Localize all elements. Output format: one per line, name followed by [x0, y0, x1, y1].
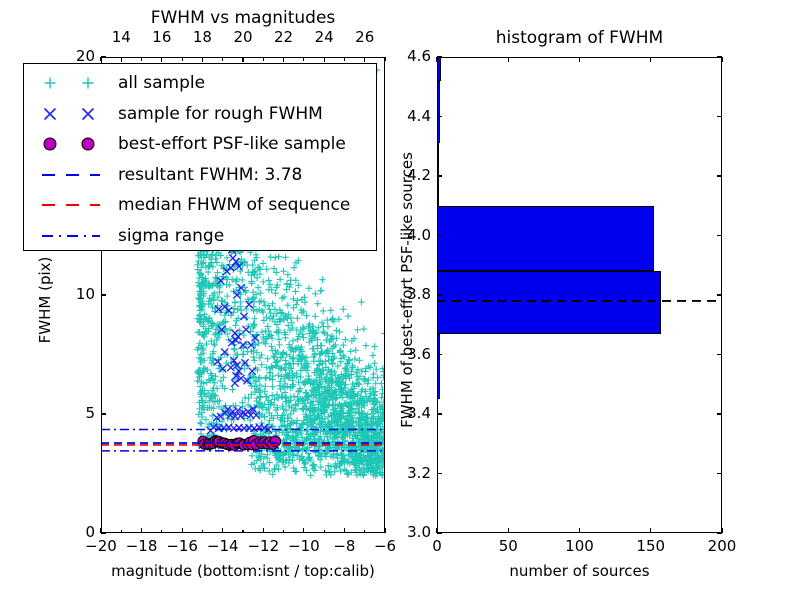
- figure-canvas: FWHM vs magnitudes 14161820222426 −20−18…: [0, 0, 800, 600]
- x-minor-tick: [324, 530, 325, 534]
- hist-y-tick-mark: [437, 116, 442, 117]
- hist-y-tick-mark: [437, 294, 442, 295]
- left-x-axis-label: magnitude (bottom:isnt / top:calib): [46, 562, 440, 580]
- legend-box: all samplesample for rough FWHMbest-effo…: [23, 63, 377, 251]
- y-tick-mark: [101, 56, 106, 57]
- hist-x-tick-label: 200: [696, 537, 748, 555]
- hist-x-top-tick-mark: [436, 57, 437, 62]
- y-tick-label: 0: [43, 523, 95, 541]
- x-top-tick-label: 26: [339, 28, 391, 46]
- hist-y-tick-mark: [437, 473, 442, 474]
- x-top-minor-tick: [182, 57, 183, 61]
- right-x-axis-label: number of sources: [437, 562, 722, 580]
- y-tick-mark: [101, 532, 106, 533]
- x-minor-tick: [242, 530, 243, 534]
- legend-symbol-cross-icon: [32, 99, 116, 129]
- hist-y-tick-mark: [437, 56, 442, 57]
- legend-item-label: all sample: [116, 73, 205, 93]
- legend-item[interactable]: sample for rough FWHM: [32, 99, 323, 129]
- hist-y-right-tick-mark: [717, 294, 722, 295]
- x-top-tick-mark: [364, 57, 365, 62]
- x-top-minor-tick: [263, 57, 264, 61]
- hist-y-tick-mark: [437, 354, 442, 355]
- hist-x-tick-label: 50: [482, 537, 534, 555]
- legend-symbol-dashed-icon: [32, 160, 116, 190]
- right-plot-frame: [437, 57, 722, 533]
- hist-x-tick-mark: [508, 528, 509, 533]
- hist-x-top-tick-mark: [721, 57, 722, 62]
- hist-y-right-tick-mark: [717, 56, 722, 57]
- x-tick-mark: [141, 528, 142, 533]
- left-panel-title: FWHM vs magnitudes: [101, 8, 385, 28]
- hist-x-top-tick-mark: [508, 57, 509, 62]
- hist-x-top-tick-mark: [579, 57, 580, 62]
- hist-y-tick-mark: [437, 413, 442, 414]
- x-top-tick-mark: [242, 57, 243, 62]
- y-tick-label: 5: [43, 404, 95, 422]
- hist-y-right-tick-mark: [717, 175, 722, 176]
- x-tick-mark: [344, 528, 345, 533]
- hist-y-right-tick-mark: [717, 413, 722, 414]
- x-top-minor-tick: [303, 57, 304, 61]
- hist-y-right-tick-mark: [717, 532, 722, 533]
- right-y-axis-label: FWHM of best-effort PSF-like sources: [398, 50, 416, 530]
- x-top-minor-tick: [141, 57, 142, 61]
- legend-item[interactable]: resultant FWHM: 3.78: [32, 160, 302, 190]
- hist-y-tick-mark: [437, 175, 442, 176]
- x-top-minor-tick: [222, 57, 223, 61]
- legend-item-label: resultant FWHM: 3.78: [116, 165, 302, 185]
- x-top-tick-mark: [161, 57, 162, 62]
- x-top-tick-mark: [324, 57, 325, 62]
- legend-item-label: sample for rough FWHM: [116, 104, 323, 124]
- x-top-tick-mark: [121, 57, 122, 62]
- legend-symbol-dashdot-icon: [32, 221, 116, 251]
- hist-x-tick-label: 100: [554, 537, 606, 555]
- hist-y-right-tick-mark: [717, 116, 722, 117]
- legend-symbol-circle-icon: [32, 129, 116, 159]
- y-tick-mark: [101, 413, 106, 414]
- hist-x-tick-mark: [650, 528, 651, 533]
- legend-item[interactable]: median FHWM of sequence: [32, 190, 350, 220]
- legend-item[interactable]: best-effort PSF-like sample: [32, 129, 346, 159]
- x-minor-tick: [283, 530, 284, 534]
- x-minor-tick: [202, 530, 203, 534]
- x-tick-mark: [263, 528, 264, 533]
- legend-item[interactable]: all sample: [32, 68, 205, 98]
- legend-item-label: sigma range: [116, 226, 224, 246]
- hist-y-tick-mark: [437, 532, 442, 533]
- hist-y-right-tick-mark: [717, 235, 722, 236]
- hist-x-tick-label: 150: [625, 537, 677, 555]
- hist-x-top-tick-mark: [650, 57, 651, 62]
- x-top-tick-mark: [202, 57, 203, 62]
- x-tick-mark: [222, 528, 223, 533]
- x-tick-mark: [182, 528, 183, 533]
- x-minor-tick: [364, 530, 365, 534]
- hist-y-right-tick-mark: [717, 473, 722, 474]
- y-tick-mark: [101, 294, 106, 295]
- right-panel-title: histogram of FWHM: [437, 28, 722, 48]
- legend-symbol-plus-icon: [32, 68, 116, 98]
- x-top-minor-tick: [344, 57, 345, 61]
- x-minor-tick: [121, 530, 122, 534]
- x-minor-tick: [161, 530, 162, 534]
- x-top-tick-mark: [283, 57, 284, 62]
- legend-item-label: median FHWM of sequence: [116, 195, 350, 215]
- legend-item[interactable]: sigma range: [32, 221, 224, 251]
- x-tick-mark: [303, 528, 304, 533]
- hist-y-right-tick-mark: [717, 354, 722, 355]
- legend-symbol-dashed-icon: [32, 190, 116, 220]
- hist-x-tick-mark: [579, 528, 580, 533]
- hist-y-tick-mark: [437, 235, 442, 236]
- legend-item-label: best-effort PSF-like sample: [116, 134, 346, 154]
